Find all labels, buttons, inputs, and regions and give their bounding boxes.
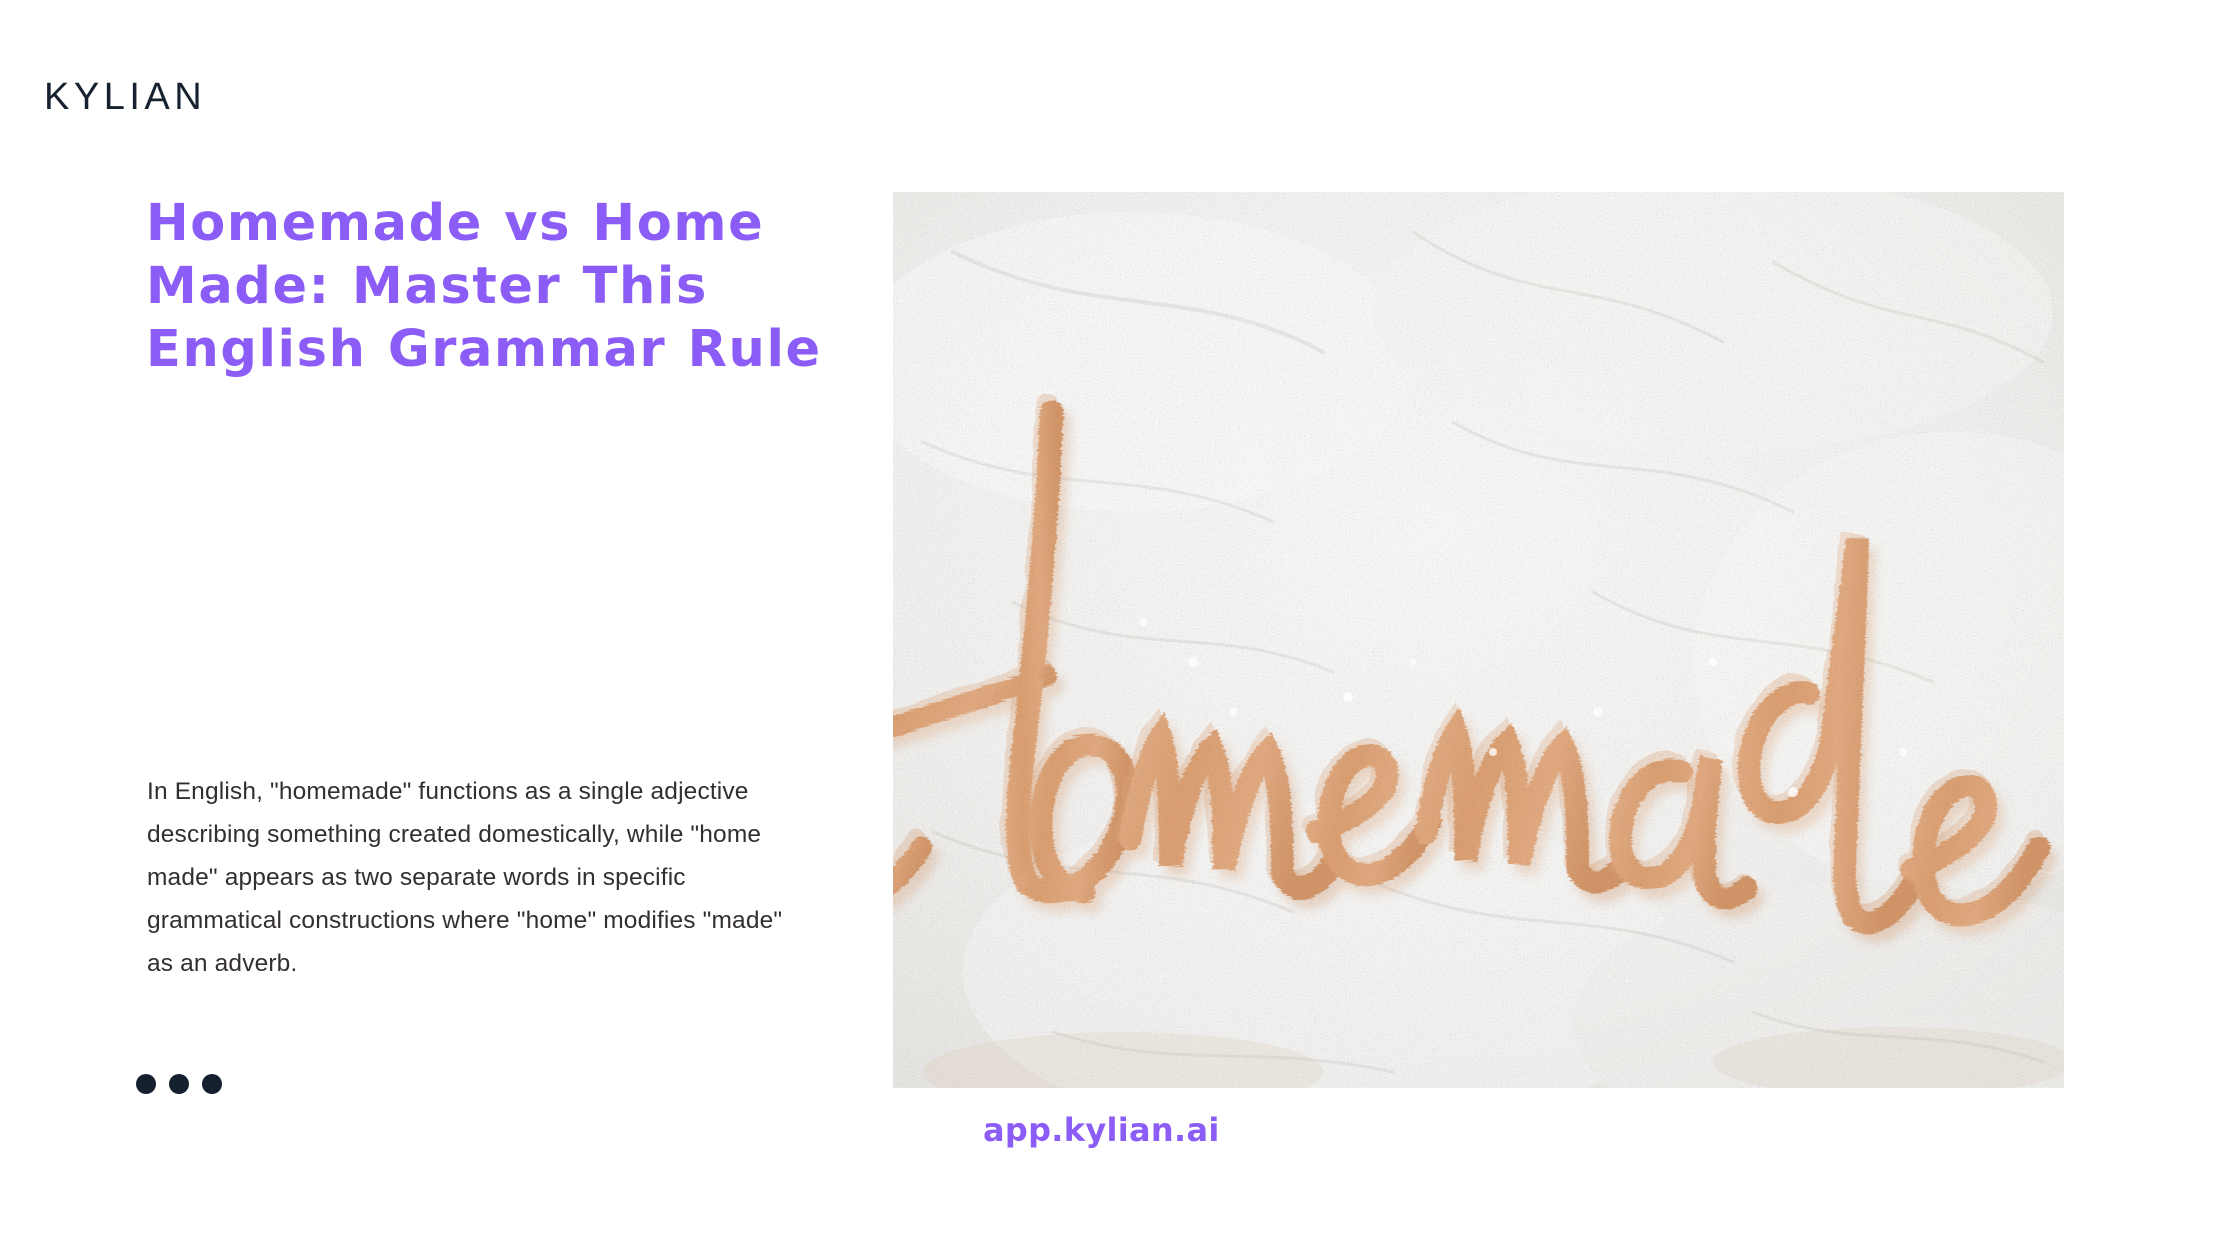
- brand-logo: KYLIAN: [44, 78, 206, 116]
- pagination-dots: [136, 1074, 222, 1094]
- text-column: Homemade vs Home Made: Master This Engli…: [146, 192, 866, 1092]
- pagination-dot: [202, 1074, 222, 1094]
- article-image: [893, 192, 2064, 1088]
- article-body-text: In English, "homemade" functions as a si…: [147, 770, 807, 985]
- pagination-dot: [169, 1074, 189, 1094]
- pagination-dot: [136, 1074, 156, 1094]
- social-card-canvas: KYLIAN Homemade vs Home Made: Master Thi…: [0, 0, 2240, 1260]
- flour-handwriting-photo: [893, 192, 2064, 1088]
- page-title: Homemade vs Home Made: Master This Engli…: [146, 192, 866, 381]
- footer-url[interactable]: app.kylian.ai: [983, 1114, 1220, 1146]
